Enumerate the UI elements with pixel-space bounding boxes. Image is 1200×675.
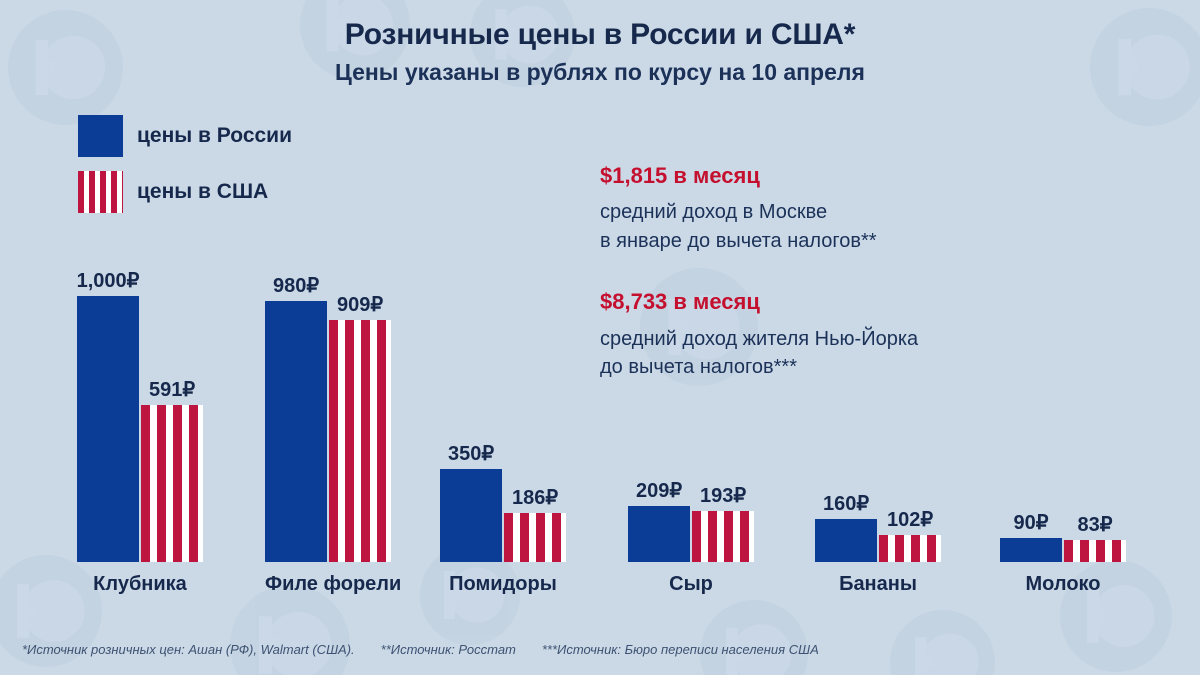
bar-value-russia: 980₽ bbox=[273, 273, 319, 298]
bar-value-usa: 186₽ bbox=[512, 485, 558, 510]
bar-value-usa: 102₽ bbox=[887, 507, 933, 532]
bar-usa[interactable]: 591₽ bbox=[141, 405, 203, 562]
bar-russia[interactable]: 209₽ bbox=[628, 506, 690, 562]
bar-group: 90₽83₽Молоко bbox=[1000, 296, 1126, 562]
bar-value-usa: 193₽ bbox=[700, 483, 746, 508]
bar-group: 980₽909₽Филе форели bbox=[265, 296, 391, 562]
bar-value-usa: 909₽ bbox=[337, 292, 383, 317]
category-label: Бананы bbox=[815, 573, 941, 596]
bar-pair: 160₽102₽ bbox=[815, 296, 941, 562]
category-label: Клубника bbox=[77, 573, 203, 596]
category-label: Филе форели bbox=[265, 573, 391, 596]
footnote-retail-prices: *Источник розничных цен: Ашан (РФ), Walm… bbox=[22, 642, 355, 657]
bar-pair: 90₽83₽ bbox=[1000, 296, 1126, 562]
bar-value-russia: 209₽ bbox=[636, 478, 682, 503]
category-label: Помидоры bbox=[440, 573, 566, 596]
bar-value-usa: 591₽ bbox=[149, 377, 195, 402]
bar-usa[interactable]: 83₽ bbox=[1064, 540, 1126, 562]
bar-pair: 980₽909₽ bbox=[265, 296, 391, 562]
bar-value-russia: 1,000₽ bbox=[77, 268, 140, 293]
bar-pair: 209₽193₽ bbox=[628, 296, 754, 562]
bar-pair: 350₽186₽ bbox=[440, 296, 566, 562]
bar-russia[interactable]: 980₽ bbox=[265, 301, 327, 562]
bar-group: 1,000₽591₽Клубника bbox=[77, 296, 203, 562]
bar-pair: 1,000₽591₽ bbox=[77, 296, 203, 562]
category-label: Сыр bbox=[628, 573, 754, 596]
bar-russia[interactable]: 160₽ bbox=[815, 519, 877, 562]
bar-usa[interactable]: 102₽ bbox=[879, 535, 941, 562]
category-label: Молоко bbox=[1000, 573, 1126, 596]
bar-value-russia: 160₽ bbox=[823, 491, 869, 516]
bar-chart: 1,000₽591₽Клубника980₽909₽Филе форели350… bbox=[0, 0, 1200, 675]
bar-russia[interactable]: 1,000₽ bbox=[77, 296, 139, 562]
bar-usa[interactable]: 909₽ bbox=[329, 320, 391, 562]
bar-usa[interactable]: 193₽ bbox=[692, 511, 754, 562]
footnote-us-census: ***Источник: Бюро переписи населения США bbox=[542, 642, 819, 657]
bar-value-russia: 90₽ bbox=[1014, 510, 1049, 535]
bar-usa[interactable]: 186₽ bbox=[504, 513, 566, 562]
bar-group: 209₽193₽Сыр bbox=[628, 296, 754, 562]
bar-value-usa: 83₽ bbox=[1078, 512, 1113, 537]
bar-value-russia: 350₽ bbox=[448, 441, 494, 466]
bar-russia[interactable]: 90₽ bbox=[1000, 538, 1062, 562]
bar-russia[interactable]: 350₽ bbox=[440, 469, 502, 562]
footnote-rosstat: **Источник: Росстат bbox=[381, 642, 516, 657]
bar-group: 160₽102₽Бананы bbox=[815, 296, 941, 562]
bar-group: 350₽186₽Помидоры bbox=[440, 296, 566, 562]
footnotes: *Источник розничных цен: Ашан (РФ), Walm… bbox=[22, 642, 1180, 657]
